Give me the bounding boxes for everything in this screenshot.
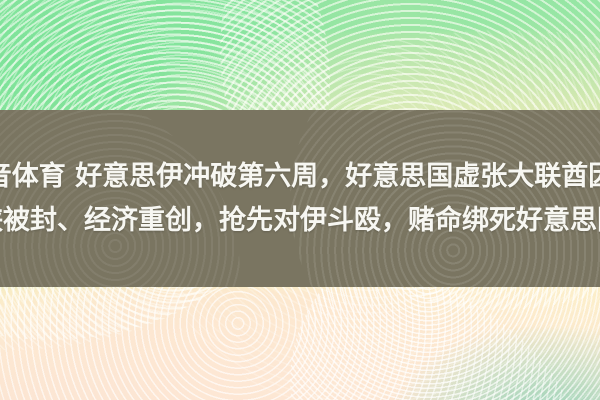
caption-band: 波音体育 好意思伊冲破第六周，好意思国虚张大联酋因海峡被封、经济重创，抢先对伊斗… <box>0 110 600 287</box>
screenshot-canvas: 波音体育 好意思伊冲破第六周，好意思国虚张大联酋因海峡被封、经济重创，抢先对伊斗… <box>0 0 600 400</box>
background-teal-pocket <box>396 328 600 400</box>
caption-clip: 波音体育 好意思伊冲破第六周，好意思国虚张大联酋因海峡被封、经济重创，抢先对伊斗… <box>0 110 600 287</box>
headline-text: 波音体育 好意思伊冲破第六周，好意思国虚张大联酋因海峡被封、经济重创，抢先对伊斗… <box>0 155 600 243</box>
